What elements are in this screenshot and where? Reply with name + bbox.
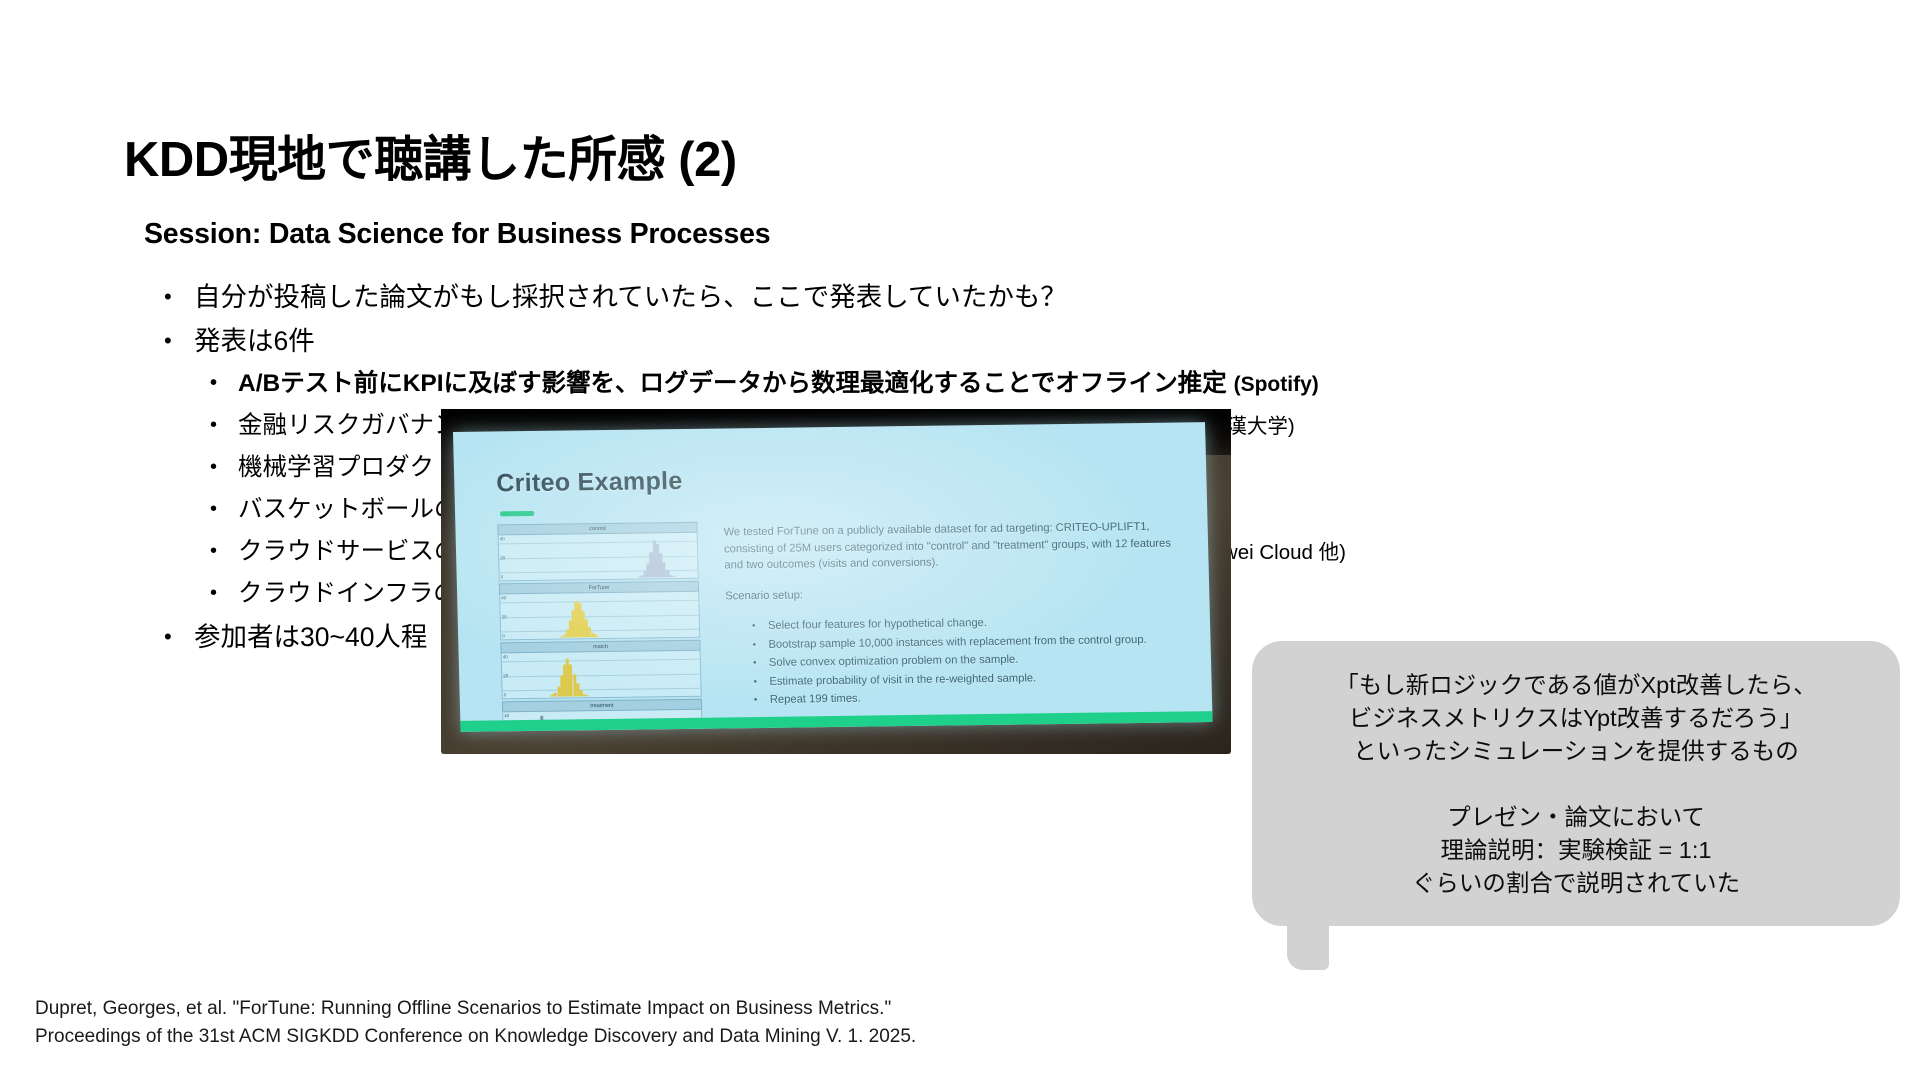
y-tick-label: 0: [502, 633, 507, 638]
gridline: [503, 688, 701, 692]
gridline: [499, 555, 697, 559]
list-item: 発表は6件: [158, 319, 1918, 363]
gridline: [502, 673, 700, 677]
list-item: Repeat 199 times.: [754, 686, 1183, 708]
y-tick-label: 20: [503, 673, 508, 678]
slide-scenario-heading: Scenario setup:: [725, 582, 1180, 604]
y-tick-label: 40: [501, 595, 506, 600]
y-tick-label: 0: [501, 574, 506, 579]
sub-bullet-affiliation: (Spotify): [1234, 373, 1319, 396]
y-axis-ticks: 40200: [503, 653, 509, 698]
callout-line: 「もし新ロジックである値がXpt改善したら、: [1252, 669, 1900, 702]
histogram-bar: [586, 695, 589, 696]
slide-title: Criteo Example: [496, 467, 683, 498]
y-tick-label: 0: [504, 692, 509, 697]
gridline: [501, 614, 699, 618]
y-tick-label: 20: [502, 614, 507, 619]
y-axis-ticks: 40200: [501, 594, 507, 639]
citation-line: Proceedings of the 31st ACM SIGKDD Confe…: [35, 1023, 916, 1051]
y-tick-label: 40: [500, 536, 505, 541]
projection-screen: Criteo Example control40200ForTune40200m…: [453, 422, 1213, 732]
gridline: [499, 541, 697, 545]
histogram-panel-plot: 40200: [501, 651, 702, 700]
citation: Dupret, Georges, et al. "ForTune: Runnin…: [35, 995, 916, 1051]
session-subtitle: Session: Data Science for Business Proce…: [144, 218, 770, 251]
callout-line: ぐらいの割合で説明されていた: [1252, 867, 1900, 900]
citation-line: Dupret, Georges, et al. "ForTune: Runnin…: [35, 995, 916, 1023]
histogram-panel-plot: 40200: [499, 592, 700, 641]
page-title: KDD現地で聴講した所感 (2): [124, 120, 737, 191]
callout-line: ビジネスメトリクスはYpt改善するだろう」: [1252, 702, 1900, 735]
callout-spacer: [1252, 768, 1900, 801]
y-tick-label: 40: [504, 713, 509, 718]
callout-bubble: 「もし新ロジックである値がXpt改善したら、 ビジネスメトリクスはYpt改善する…: [1252, 641, 1900, 926]
histogram-bar: [673, 576, 676, 577]
histogram-panel: control40200: [497, 522, 698, 582]
histogram-chart: control40200ForTune40200match40200treatm…: [497, 522, 703, 732]
list-item: A/Bテスト前にKPIに及ぼす影響を、ログデータから数理最適化することでオフライ…: [204, 363, 1918, 405]
slide-paragraph: We tested ForTune on a publicly availabl…: [723, 519, 1179, 574]
slide-accent-dash: [500, 511, 534, 516]
histogram-panel: ForTune40200: [499, 581, 700, 641]
slide-root: KDD現地で聴講した所感 (2) Session: Data Science f…: [0, 0, 1920, 1080]
list-item: 自分が投稿した論文がもし採択されていたら、ここで発表していたかも？: [158, 275, 1918, 319]
projected-slide-photo: Criteo Example control40200ForTune40200m…: [441, 409, 1231, 754]
gridline: [501, 629, 699, 633]
y-tick-label: 20: [500, 555, 505, 560]
callout-line: 理論説明：実験検証 = 1:1: [1252, 834, 1900, 867]
y-axis-ticks: 40200: [500, 535, 506, 580]
slide-body-text: We tested ForTune on a publicly availabl…: [723, 519, 1183, 711]
histogram-panel: match40200: [500, 640, 701, 700]
y-tick-label: 40: [503, 654, 508, 659]
callout-tail: [1287, 920, 1329, 970]
gridline: [502, 659, 700, 663]
slide-scenario-list: Select four features for hypothetical ch…: [752, 612, 1183, 708]
callout-line: といったシミュレーションを提供するもの: [1252, 735, 1900, 768]
callout-text: 「もし新ロジックである値がXpt改善したら、 ビジネスメトリクスはYpt改善する…: [1252, 669, 1900, 900]
callout-line: プレゼン・論文において: [1252, 801, 1900, 834]
histogram-panel-plot: 40200: [498, 533, 699, 582]
gridline: [500, 600, 698, 604]
histogram-bar: [595, 636, 598, 638]
sub-bullet-text: A/Bテスト前にKPIに及ぼす影響を、ログデータから数理最適化することでオフライ…: [238, 370, 1227, 397]
